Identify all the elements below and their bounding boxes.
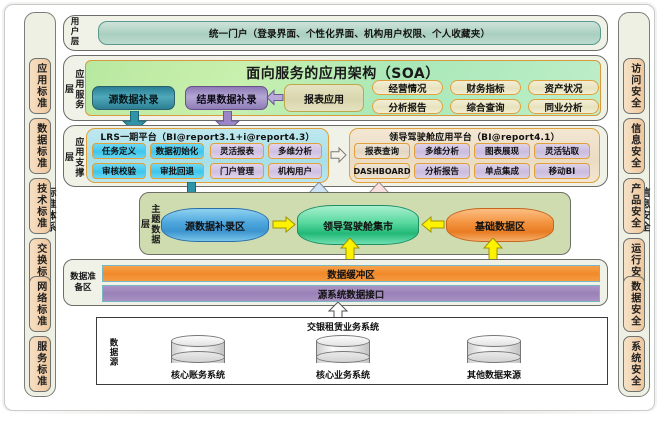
lrs-cell-flexible-report[interactable]: 灵活报表 [210, 143, 264, 159]
frame-shadow [6, 411, 654, 414]
data-source-title: 交银租赁业务系统 [288, 320, 398, 333]
sidebar-item-label: 应用标准 [34, 63, 46, 109]
topic-data-layer-label: 主题数据层 [143, 203, 155, 245]
arrow-source-to-mart-right [272, 216, 296, 233]
database-cylinder-icon [171, 335, 225, 369]
lrs-cell-audit-validation[interactable]: 审核校验 [92, 163, 146, 179]
sidebar-item-network-standard[interactable]: 网络标准 [29, 276, 51, 332]
cockpit-cell-flexible-drilldown[interactable]: 灵活钻取 [534, 143, 590, 159]
architecture-diagram: 标准体系 应用标准 数据标准 技术标准 交换标准 网络标准 服务标准 信息安全 … [0, 0, 661, 422]
module-analysis-report[interactable]: 分析报告 [372, 99, 443, 114]
lrs-cell-task-definition[interactable]: 任务定义 [92, 143, 146, 159]
base-data-area-cylinder[interactable]: 基础数据区 [446, 208, 554, 242]
cockpit-cell-chart-display[interactable]: 图表展现 [474, 143, 530, 159]
sidebar-item-label: 网络标准 [34, 281, 46, 327]
module-financial-indicator[interactable]: 财务指标 [450, 80, 521, 95]
cockpit-cell-sso-integration[interactable]: 单点集成 [474, 163, 530, 179]
lrs-platform-title: LRS一期平台（BI@report3.1+i@report4.3） [87, 130, 328, 143]
source-system-interface-strip[interactable]: 源系统数据接口 [102, 285, 600, 302]
lrs-cell-approval-rollback[interactable]: 审批回退 [150, 163, 204, 179]
data-source-other-label: 其他数据来源 [434, 368, 554, 381]
data-source-core-accounting-label: 核心账务系统 [138, 368, 258, 381]
sidebar-item-data-standard[interactable]: 数据标准 [29, 118, 51, 174]
cockpit-platform-title: 领导驾驶舱应用平台（BI@report4.1） [350, 130, 599, 143]
sidebar-item-label: 服务标准 [34, 341, 46, 387]
cockpit-cell-dashboard[interactable]: DASHBOARD [354, 163, 410, 179]
database-cylinder-icon [467, 335, 521, 369]
sidebar-item-label: 系统安全 [628, 341, 640, 387]
lrs-cell-multidim-analysis[interactable]: 多维分析 [268, 143, 322, 159]
cockpit-cell-analysis-report[interactable]: 分析报告 [414, 163, 470, 179]
soa-title: 面向服务的应用架构（SOA） [86, 63, 600, 83]
module-business-status[interactable]: 经营情况 [372, 80, 443, 95]
arrow-lrs-to-cockpit-right [330, 146, 347, 164]
user-layer-label: 用户层 [68, 22, 82, 44]
source-data-area-cylinder[interactable]: 源数据补录区 [161, 208, 269, 242]
data-buffer-strip[interactable]: 数据缓冲区 [102, 265, 600, 282]
lrs-cell-org-user[interactable]: 机构用户 [268, 163, 322, 179]
data-source-core-business-label: 核心业务系统 [283, 368, 403, 381]
sidebar-item-label: 数据安全 [628, 281, 640, 327]
sidebar-item-system-security[interactable]: 系统安全 [623, 336, 645, 392]
lrs-cell-data-initialization[interactable]: 数据初始化 [150, 143, 204, 159]
arrow-report-to-result-left [266, 88, 284, 107]
source-data-entry-button[interactable]: 源数据补录 [92, 86, 175, 110]
sidebar-item-product-security[interactable]: 产品安全 [623, 178, 645, 234]
sidebar-item-label: 产品安全 [628, 183, 640, 229]
unified-portal-bar[interactable]: 统一门户（登录界面、个性化界面、机构用户权限、个人收藏夹） [98, 21, 601, 45]
sidebar-item-data-security[interactable]: 数据安全 [623, 276, 645, 332]
cockpit-cell-multidim-analysis[interactable]: 多维分析 [414, 143, 470, 159]
sidebar-item-service-standard[interactable]: 服务标准 [29, 336, 51, 392]
unified-portal-label: 统一门户（登录界面、个性化界面、机构用户权限、个人收藏夹） [209, 26, 490, 40]
module-comprehensive-query[interactable]: 综合查询 [450, 99, 521, 114]
arrow-base-to-mart-left [421, 216, 445, 233]
sidebar-item-information-security[interactable]: 信息安全 [623, 118, 645, 174]
database-cylinder-icon [316, 335, 370, 369]
sidebar-item-application-standard[interactable]: 应用标准 [29, 58, 51, 114]
cockpit-cell-mobile-bi[interactable]: 移动BI [534, 163, 590, 179]
sidebar-item-technical-standard[interactable]: 技术标准 [29, 178, 51, 234]
result-data-entry-button[interactable]: 结果数据补录 [185, 86, 268, 110]
sidebar-item-label: 技术标准 [34, 183, 46, 229]
module-peer-analysis[interactable]: 同业分析 [528, 99, 599, 114]
report-application-button[interactable]: 报表应用 [284, 84, 364, 112]
sidebar-item-label: 信息安全 [628, 123, 640, 169]
module-asset-status[interactable]: 资产状况 [528, 80, 599, 95]
data-source-layer-label: 数据源 [106, 333, 117, 371]
app-service-layer-label: 应用服务层 [67, 64, 79, 114]
sidebar-item-label: 数据标准 [34, 123, 46, 169]
lrs-cell-portal-management[interactable]: 门户管理 [210, 163, 264, 179]
data-prep-layer-label: 数据准备区 [70, 268, 96, 298]
app-support-layer-label: 应用支撑层 [67, 134, 79, 180]
cockpit-cell-report-query[interactable]: 报表查询 [354, 143, 410, 159]
sidebar-item-access-security[interactable]: 访问安全 [623, 58, 645, 114]
sidebar-item-label: 访问安全 [628, 63, 640, 109]
